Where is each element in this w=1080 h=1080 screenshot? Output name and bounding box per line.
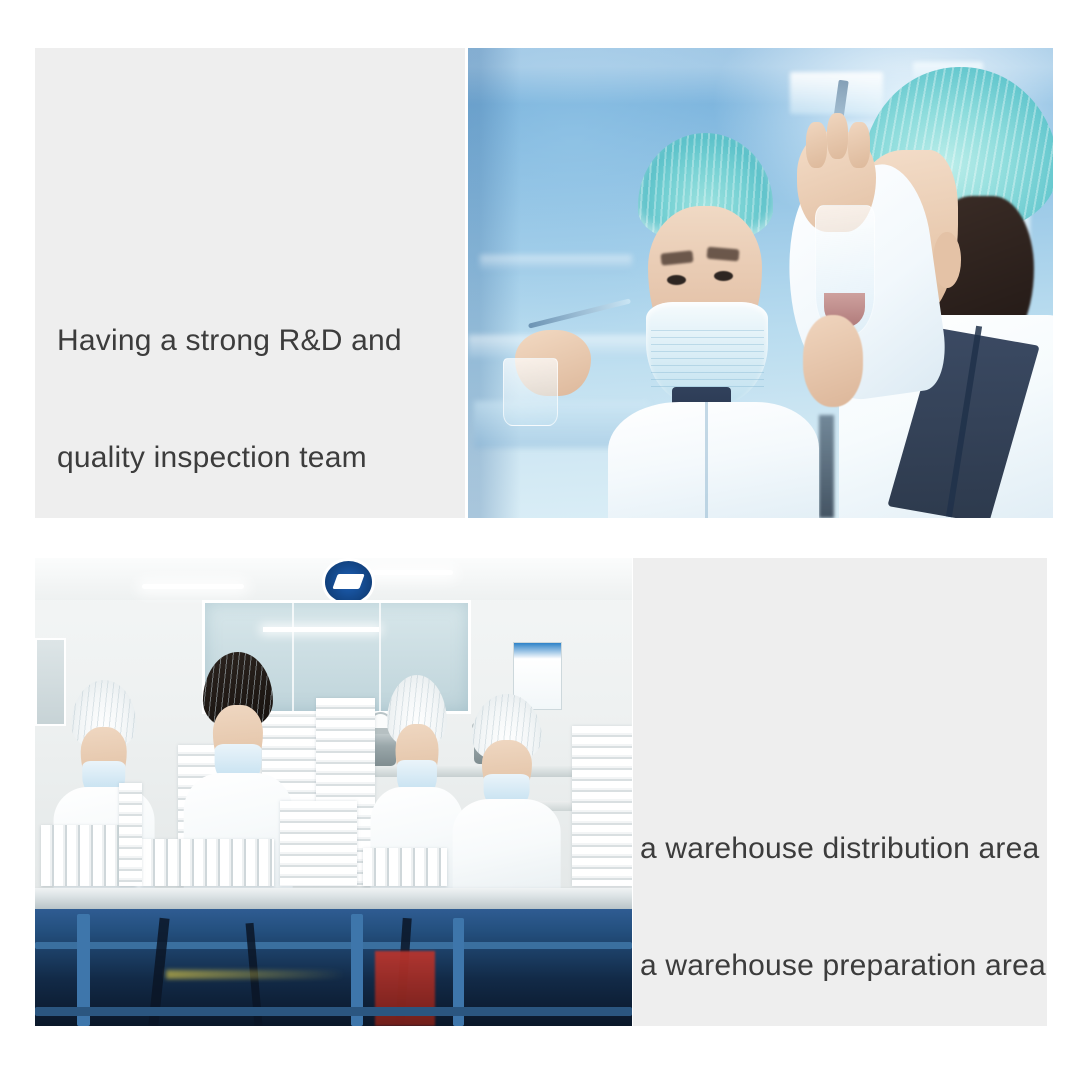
window-mullion-2	[379, 603, 381, 711]
technician-profile-finger-3	[848, 122, 869, 168]
technician-profile-ear	[933, 232, 960, 287]
top-caption-line-1: Having a strong R&D and	[57, 321, 402, 360]
lab-beaker	[503, 358, 558, 426]
bottom-caption-line-1: a warehouse distribution area	[640, 829, 1046, 868]
window-interior-light	[263, 627, 379, 632]
carton-stack-front	[280, 801, 358, 885]
carton-row-right	[363, 848, 447, 885]
bottom-caption: a warehouse distribution area a warehous…	[640, 751, 1046, 1063]
wall-sign-icon	[322, 558, 376, 606]
packer-worker-4	[465, 694, 549, 905]
table-frame-rail-lower	[35, 1007, 632, 1015]
table-frame-rail-upper	[35, 942, 632, 949]
warehouse-packing-photo	[35, 558, 632, 1026]
bottle-column	[119, 783, 143, 886]
ceiling-light-2	[369, 570, 453, 575]
window-mullion-1	[292, 603, 294, 711]
top-caption-line-2: quality inspection team	[57, 438, 402, 477]
technician-profile-finger-2	[827, 113, 848, 159]
technician-profile-finger-1	[806, 122, 827, 168]
poster-canvas: Having a strong R&D and quality inspecti…	[0, 0, 1080, 1080]
ceiling-light-1	[142, 584, 243, 589]
lab-inspection-photo	[468, 48, 1053, 518]
top-caption: Having a strong R&D and quality inspecti…	[57, 243, 402, 555]
carton-row-center	[142, 839, 273, 886]
stainless-table-top	[35, 888, 632, 909]
packer-3-coat	[371, 787, 464, 904]
technician-profile	[772, 57, 1053, 518]
wall-panel-door	[35, 638, 66, 726]
carton-stack-4	[572, 726, 632, 885]
floor-marking	[166, 970, 345, 979]
technician-profile-hand-lower	[803, 315, 864, 407]
bottom-caption-line-2: a warehouse preparation area	[640, 946, 1046, 985]
